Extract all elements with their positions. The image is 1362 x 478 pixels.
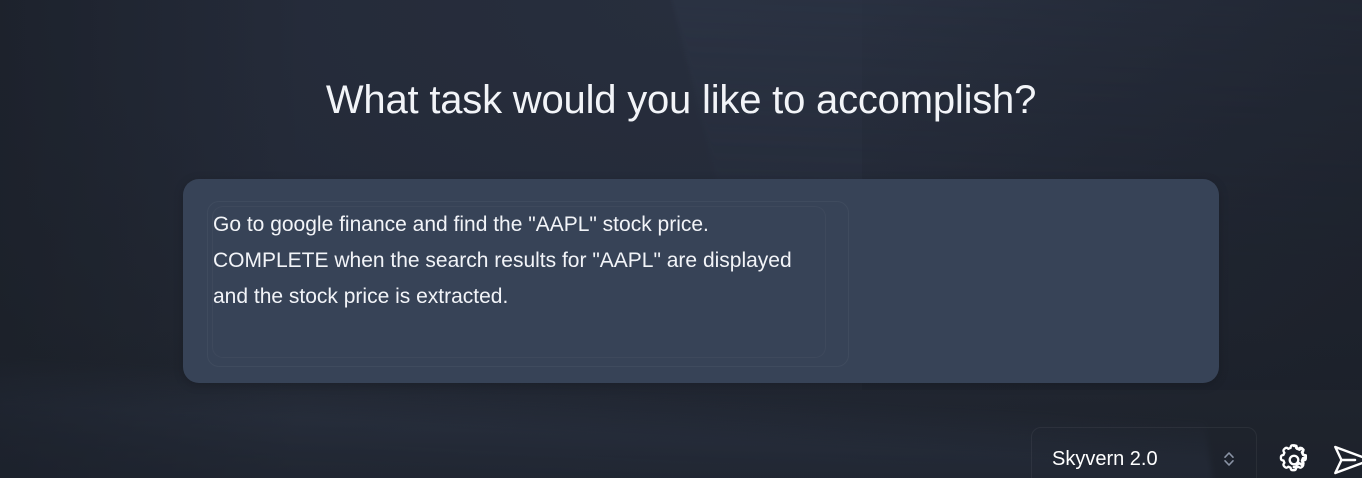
prompt-card: Skyvern 2.0 — [183, 179, 1219, 383]
settings-button[interactable] — [1275, 441, 1313, 478]
model-select-value: Skyvern 2.0 — [1052, 447, 1158, 471]
task-prompt-input[interactable] — [213, 207, 825, 357]
composer-controls: Skyvern 2.0 — [1031, 427, 1257, 478]
task-composer-screen: What task would you like to accomplish? … — [0, 0, 1362, 478]
page-title: What task would you like to accomplish? — [0, 74, 1362, 126]
model-select[interactable]: Skyvern 2.0 — [1031, 427, 1257, 478]
chevron-up-down-icon — [1222, 449, 1236, 469]
gear-icon — [1276, 442, 1312, 478]
send-button[interactable] — [1331, 441, 1362, 478]
send-icon — [1332, 442, 1362, 478]
